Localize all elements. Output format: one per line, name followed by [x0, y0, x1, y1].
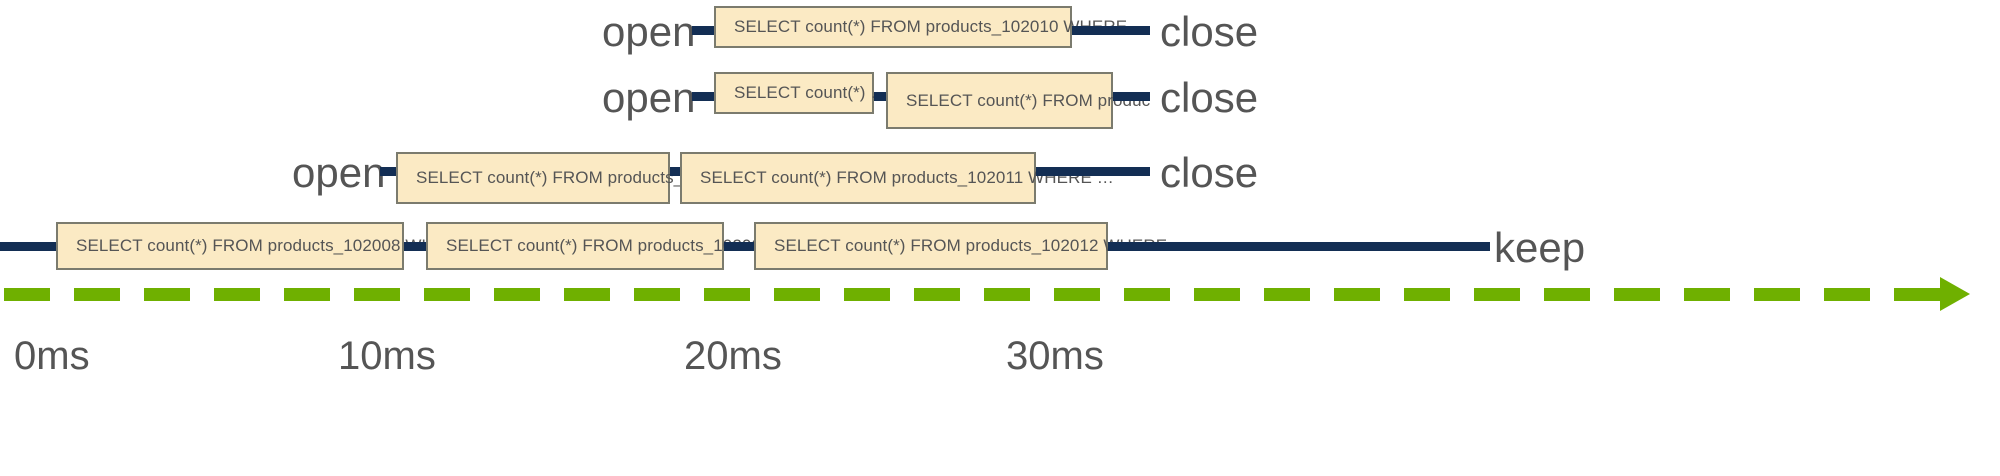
row-1-close-label: close: [1160, 11, 1258, 53]
row-2-query-box-2[interactable]: SELECT count(*) FROM produc: [886, 72, 1113, 129]
row-3-close-label: close: [1160, 152, 1258, 194]
row-4-query-box-1[interactable]: SELECT count(*) FROM products_102008 WHE…: [56, 222, 404, 270]
row-1-wire-right: [1072, 26, 1150, 35]
row-2-query-text-1: SELECT count(*) …: [716, 83, 888, 103]
row-4-wire-mid-2: [724, 242, 754, 251]
axis-arrow-icon: [1940, 277, 1970, 311]
row-1-query-box-1[interactable]: SELECT count(*) FROM products_102010 WHE…: [714, 6, 1072, 48]
axis-tick-3: 30ms: [1006, 336, 1104, 376]
row-2-wire-left: [692, 92, 714, 101]
row-2-wire-mid: [874, 92, 886, 101]
row-2-wire-right: [1113, 92, 1150, 101]
row-2-query-text-2: SELECT count(*) FROM produc: [888, 91, 1150, 111]
row-3-query-text-1: SELECT count(*) FROM products_…: [398, 168, 700, 188]
row-4-keep-label: keep: [1494, 227, 1585, 269]
row-4-wire-left: [0, 242, 56, 251]
row-1-wire-left: [692, 26, 714, 35]
row-2-query-box-1[interactable]: SELECT count(*) …: [714, 72, 874, 114]
row-4-query-box-2[interactable]: SELECT count(*) FROM products_102009 ..: [426, 222, 724, 270]
timeline-diagram: open SELECT count(*) FROM products_10201…: [0, 0, 2000, 476]
row-3-query-box-2[interactable]: SELECT count(*) FROM products_102011 WHE…: [680, 152, 1036, 204]
axis-tick-0: 0ms: [14, 336, 90, 376]
row-1-open-label: open: [602, 11, 695, 53]
row-4-wire-mid-1: [404, 242, 426, 251]
row-2-open-label: open: [602, 77, 695, 119]
row-2-close-label: close: [1160, 77, 1258, 119]
row-3-wire-right: [1036, 167, 1150, 176]
row-4-query-box-3[interactable]: SELECT count(*) FROM products_102012 WHE…: [754, 222, 1108, 270]
axis-tick-2: 20ms: [684, 336, 782, 376]
axis-tick-1: 10ms: [338, 336, 436, 376]
row-3-query-box-1[interactable]: SELECT count(*) FROM products_…: [396, 152, 670, 204]
row-3-open-label: open: [292, 152, 385, 194]
row-4-wire-right: [1108, 242, 1490, 251]
